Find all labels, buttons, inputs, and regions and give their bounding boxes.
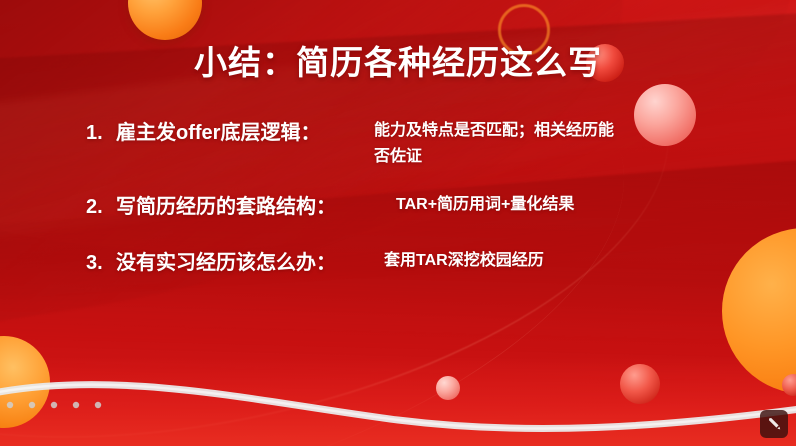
list-item-value: 套用TAR深挖校园经历 <box>384 248 544 274</box>
list-item: 3. 没有实习经历该怎么办： 套用TAR深挖校园经历 <box>86 248 746 282</box>
presentation-slide: 小结：简历各种经历这么写 1. 雇主发offer底层逻辑： 能力及特点是否匹配；… <box>0 0 796 446</box>
list-item: 1. 雇主发offer底层逻辑： 能力及特点是否匹配；相关经历能否佐证 <box>86 118 746 170</box>
pink-sphere-on-wave <box>436 376 460 400</box>
list-item-number: 2. <box>86 192 116 222</box>
list-item-label: 没有实习经历该怎么办： <box>116 248 384 278</box>
pen-nib-icon <box>765 415 783 433</box>
list-item-label: 雇主发offer底层逻辑： <box>116 118 374 148</box>
red-sphere-on-wave <box>620 364 660 404</box>
list-item: 2. 写简历经历的套路结构： TAR+简历用词+量化结果 <box>86 192 746 226</box>
list-item-label: 写简历经历的套路结构： <box>116 192 396 222</box>
list-item-number: 3. <box>86 248 116 278</box>
summary-list: 1. 雇主发offer底层逻辑： 能力及特点是否匹配；相关经历能否佐证 2. 写… <box>86 118 746 304</box>
watermark-badge <box>760 410 788 438</box>
list-item-number: 1. <box>86 118 116 148</box>
list-item-value: 能力及特点是否匹配；相关经历能否佐证 <box>374 118 620 170</box>
background-bottom-glow <box>0 357 796 446</box>
list-item-value: TAR+简历用词+量化结果 <box>396 192 574 218</box>
page-title: 小结：简历各种经历这么写 <box>0 36 796 84</box>
